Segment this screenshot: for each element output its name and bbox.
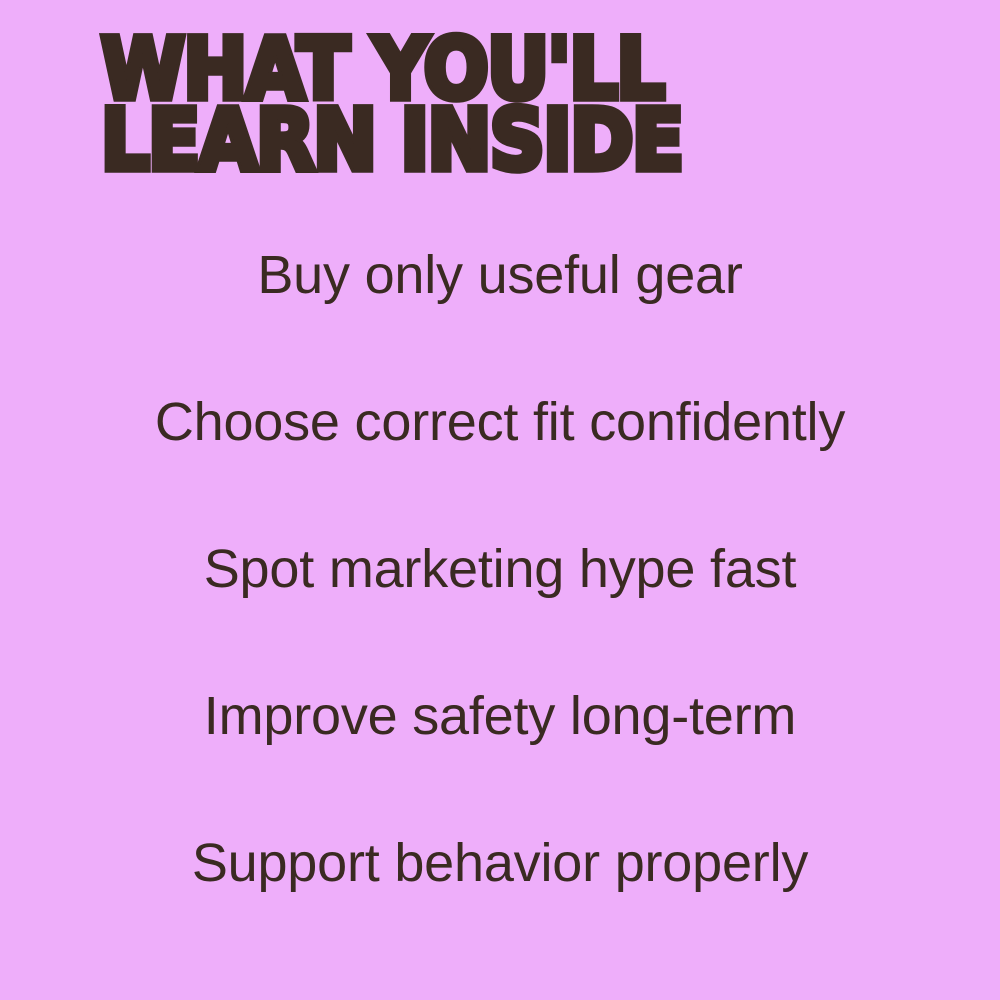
- list-item-label: Spot marketing hype fast: [204, 540, 797, 598]
- slide-canvas: WHAT YOU'LL LEARN INSIDE Buy only useful…: [0, 0, 1000, 1000]
- list-item-label: Choose correct fit confidently: [155, 393, 845, 451]
- list-item-label: Improve safety long-term: [204, 687, 796, 745]
- learning-points-list: Buy only useful gear Choose correct fit …: [0, 246, 1000, 981]
- list-item: Buy only useful gear: [0, 246, 1000, 393]
- list-item-label: Buy only useful gear: [257, 246, 742, 304]
- list-item: Support behavior properly: [0, 834, 1000, 981]
- list-item-label: Support behavior properly: [192, 834, 808, 892]
- page-title: WHAT YOU'LL LEARN INSIDE: [101, 34, 931, 176]
- list-item: Choose correct fit confidently: [0, 393, 1000, 540]
- list-item: Improve safety long-term: [0, 687, 1000, 834]
- page-title-line-2: LEARN INSIDE: [101, 105, 852, 176]
- list-item: Spot marketing hype fast: [0, 540, 1000, 687]
